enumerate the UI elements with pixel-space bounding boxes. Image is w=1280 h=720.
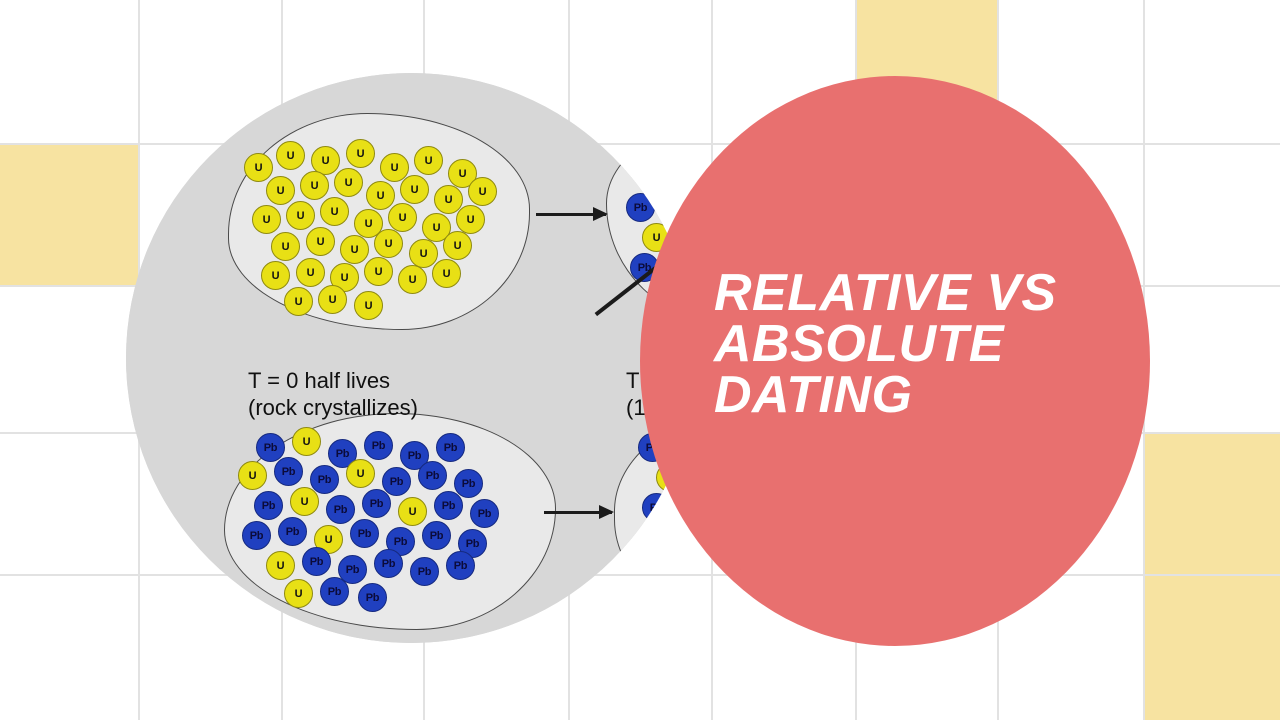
uranium-atom: U	[468, 177, 497, 206]
uranium-atom: U	[244, 153, 273, 182]
lead-atom: Pb	[422, 521, 451, 550]
uranium-atom: U	[432, 259, 461, 288]
uranium-atom: U	[398, 265, 427, 294]
uranium-atom: U	[266, 176, 295, 205]
uranium-atom: U	[306, 227, 335, 256]
lead-atom: Pb	[626, 193, 655, 222]
decay-diagram-photo: UUUUUUUUUUUUUUUUUUUUUUUUUUUUUUUUUUUUPbPb…	[126, 73, 696, 643]
lead-atom: Pb	[646, 553, 675, 582]
uranium-atom: U	[354, 291, 383, 320]
uranium-atom: U	[456, 205, 485, 234]
uranium-atom: U	[300, 171, 329, 200]
lead-atom: Pb	[434, 491, 463, 520]
title-line-3: Dating	[714, 370, 1144, 421]
lead-atom: Pb	[666, 581, 695, 610]
lead-atom: Pb	[660, 523, 689, 552]
lead-atom: Pb	[642, 493, 671, 522]
uranium-atom: U	[290, 487, 319, 516]
arrow-t0-to-t1	[536, 213, 606, 216]
decay-diagram-inner: UUUUUUUUUUUUUUUUUUUUUUUUUUUUUUUUUUUUPbPb…	[126, 73, 696, 643]
lead-atom: Pb	[436, 433, 465, 462]
uranium-atom: U	[398, 497, 427, 526]
poster-canvas: UUUUUUUUUUUUUUUUUUUUUUUUUUUUUUUUUUUUPbPb…	[0, 0, 1280, 720]
lead-atom: Pb	[664, 129, 693, 158]
uranium-atom: U	[286, 201, 315, 230]
caption-stage-t0-line2: (rock crystallizes)	[248, 395, 418, 422]
uranium-atom: U	[266, 551, 295, 580]
uranium-atom: U	[644, 163, 673, 192]
caption-stage-t0: T = 0 half lives (rock crystallizes)	[248, 368, 418, 422]
uranium-atom: U	[318, 285, 347, 314]
lead-atom: Pb	[446, 551, 475, 580]
lead-atom: Pb	[410, 557, 439, 586]
uranium-atom: U	[346, 459, 375, 488]
uranium-atom: U	[366, 181, 395, 210]
lead-atom: Pb	[358, 583, 387, 612]
lead-atom: Pb	[418, 461, 447, 490]
lead-atom: Pb	[256, 433, 285, 462]
uranium-atom: U	[400, 175, 429, 204]
lead-atom: Pb	[242, 521, 271, 550]
lead-atom: Pb	[364, 431, 393, 460]
lead-atom: Pb	[320, 577, 349, 606]
lead-atom: Pb	[454, 469, 483, 498]
lead-atom: Pb	[310, 465, 339, 494]
lead-atom: Pb	[326, 495, 355, 524]
uranium-atom: U	[364, 257, 393, 286]
uranium-atom: U	[284, 287, 313, 316]
uranium-atom: U	[334, 168, 363, 197]
uranium-atom: U	[346, 139, 375, 168]
uranium-atom: U	[238, 461, 267, 490]
uranium-atom: U	[261, 261, 290, 290]
grid-highlight-bottom-right	[1143, 432, 1280, 720]
lead-atom: Pb	[350, 519, 379, 548]
lead-atom: Pb	[302, 547, 331, 576]
uranium-atom: U	[443, 231, 472, 260]
lead-atom: Pb	[382, 467, 411, 496]
arrow-t2-to-t3	[544, 511, 612, 514]
uranium-atom: U	[292, 427, 321, 456]
grid-highlight-left	[0, 143, 138, 285]
uranium-atom: U	[276, 141, 305, 170]
lead-atom: Pb	[274, 457, 303, 486]
uranium-atom: U	[284, 579, 313, 608]
uranium-atom: U	[320, 197, 349, 226]
title-line-1: Relative vs	[714, 268, 1144, 319]
lead-atom: Pb	[374, 549, 403, 578]
uranium-atom: U	[374, 229, 403, 258]
page-title: Relative vs Absolute Dating	[714, 268, 1144, 421]
uranium-atom: U	[388, 203, 417, 232]
lead-atom: Pb	[362, 489, 391, 518]
uranium-atom: U	[340, 235, 369, 264]
caption-stage-t0-line1: T = 0 half lives	[248, 368, 418, 395]
title-line-2: Absolute	[714, 319, 1144, 370]
lead-atom: Pb	[254, 491, 283, 520]
lead-atom: Pb	[278, 517, 307, 546]
uranium-atom: U	[252, 205, 281, 234]
uranium-atom: U	[414, 146, 443, 175]
lead-atom: Pb	[628, 135, 657, 164]
uranium-atom: U	[296, 258, 325, 287]
uranium-atom: U	[409, 239, 438, 268]
lead-atom: Pb	[470, 499, 499, 528]
uranium-atom: U	[271, 232, 300, 261]
